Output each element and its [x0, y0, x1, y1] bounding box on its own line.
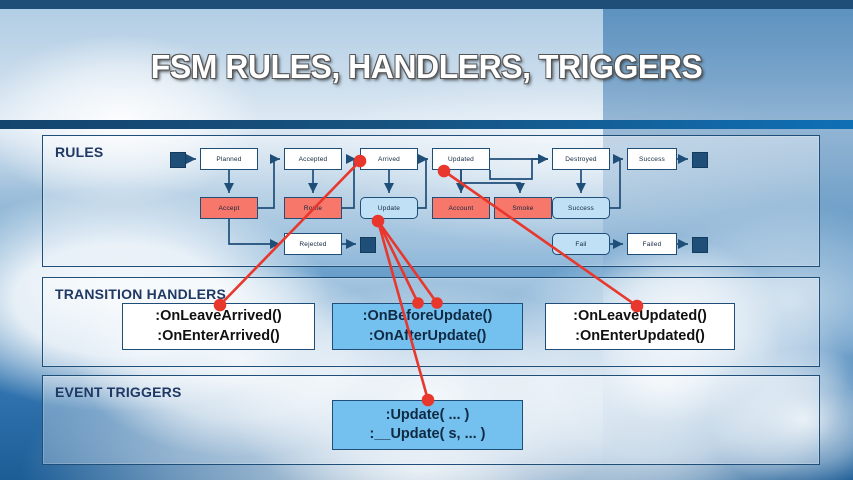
handler-line-2: :OnEnterArrived(): [157, 327, 279, 346]
fsm-node-arrived[interactable]: Arrived: [360, 148, 418, 170]
fsm-node-label: Accepted: [299, 156, 328, 163]
title-banner-underline: [0, 120, 853, 129]
trigger-line-2: :__Update( s, ... ): [369, 425, 485, 444]
fsm-node-account[interactable]: Account: [432, 197, 490, 219]
fsm-node-route[interactable]: Route: [284, 197, 342, 219]
fsm-terminal-end_rej[interactable]: [360, 237, 376, 253]
fsm-node-label: Destroyed: [565, 156, 596, 163]
handler-line-1: :OnBeforeUpdate(): [363, 307, 493, 326]
fsm-node-rejected[interactable]: Rejected: [284, 233, 342, 255]
fsm-node-update[interactable]: Update: [360, 197, 418, 219]
slide-canvas: FSM RULES, HANDLERS, TRIGGERS RULES: [0, 0, 853, 480]
handler-box-updated[interactable]: :OnLeaveUpdated() :OnEnterUpdated(): [545, 303, 735, 350]
fsm-node-label: Arrived: [378, 156, 400, 163]
handler-line-2: :OnEnterUpdated(): [575, 327, 705, 346]
transition-handlers-panel-title: TRANSITION HANDLERS: [55, 286, 226, 302]
handler-line-2: :OnAfterUpdate(): [369, 327, 487, 346]
fsm-terminal-end_top[interactable]: [692, 152, 708, 168]
fsm-node-label: Fail: [575, 241, 586, 248]
fsm-node-updated[interactable]: Updated: [432, 148, 490, 170]
fsm-node-accept[interactable]: Accept: [200, 197, 258, 219]
fsm-node-planned[interactable]: Planned: [200, 148, 258, 170]
fsm-terminal-start[interactable]: [170, 152, 186, 168]
handler-box-update[interactable]: :OnBeforeUpdate() :OnAfterUpdate(): [332, 303, 523, 350]
trigger-box-update[interactable]: :Update( ... ) :__Update( s, ... ): [332, 400, 523, 450]
fsm-node-label: Route: [304, 205, 322, 212]
fsm-node-label: Updated: [448, 156, 474, 163]
fsm-node-label: Rejected: [299, 241, 326, 248]
fsm-node-success_e[interactable]: Success: [552, 197, 610, 219]
top-accent-bar: [0, 0, 853, 9]
fsm-node-success_s[interactable]: Success: [627, 148, 677, 170]
trigger-line-1: :Update( ... ): [386, 406, 470, 425]
fsm-node-smoke[interactable]: Smoke: [494, 197, 552, 219]
fsm-node-label: Smoke: [512, 205, 533, 212]
page-title: FSM RULES, HANDLERS, TRIGGERS: [13, 48, 840, 86]
fsm-state-diagram: PlannedAcceptedArrivedUpdatedDestroyedSu…: [42, 135, 818, 265]
fsm-node-accepted[interactable]: Accepted: [284, 148, 342, 170]
fsm-node-destroyed[interactable]: Destroyed: [552, 148, 610, 170]
fsm-node-failed[interactable]: Failed: [627, 233, 677, 255]
fsm-node-label: Account: [449, 205, 474, 212]
fsm-terminal-end_fail[interactable]: [692, 237, 708, 253]
fsm-node-label: Planned: [216, 156, 241, 163]
event-triggers-panel-title: EVENT TRIGGERS: [55, 384, 181, 400]
fsm-node-fail[interactable]: Fail: [552, 233, 610, 255]
handler-line-1: :OnLeaveUpdated(): [573, 307, 707, 326]
fsm-node-label: Failed: [643, 241, 662, 248]
fsm-node-label: Success: [639, 156, 665, 163]
handler-box-arrived[interactable]: :OnLeaveArrived() :OnEnterArrived(): [122, 303, 315, 350]
handler-line-1: :OnLeaveArrived(): [155, 307, 282, 326]
fsm-node-label: Update: [378, 205, 400, 212]
fsm-node-label: Accept: [218, 205, 239, 212]
fsm-node-label: Success: [568, 205, 594, 212]
